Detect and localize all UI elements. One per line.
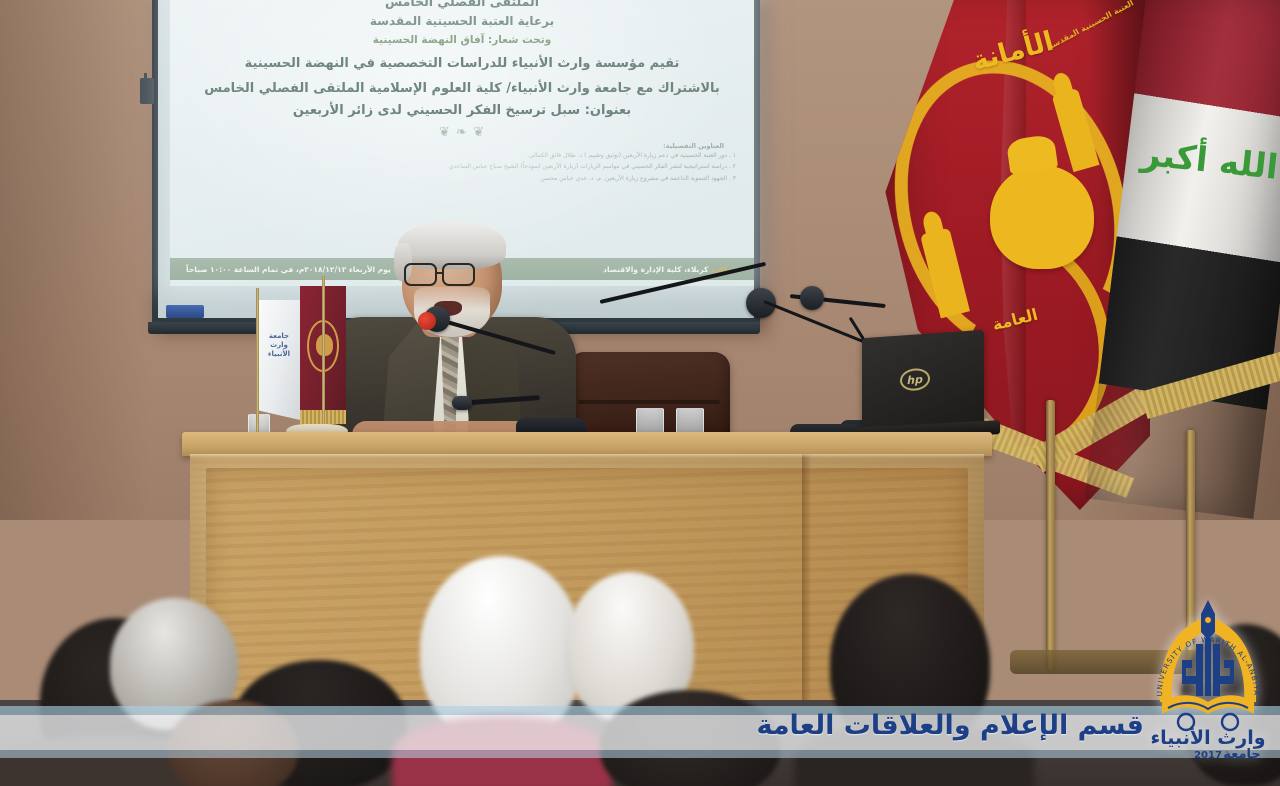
- logo-pillar-icon: [1213, 644, 1220, 696]
- slide-details-list: ١ . دور العتبة الحسينية في دعم زيارة الأ…: [170, 150, 754, 185]
- logo-pillar-icon: [1205, 638, 1211, 696]
- logo-kufic-icon: [1182, 660, 1196, 684]
- slide-line-2: برعاية العتبة الحسينية المقدسة: [196, 12, 728, 31]
- microphone-windscreen: [418, 312, 436, 330]
- desk-surface: [182, 432, 992, 456]
- desk-flag-university: جامعة وارث الأنبياء: [258, 300, 300, 420]
- laptop: hp: [862, 330, 984, 435]
- microphone-capsule: [452, 396, 472, 410]
- slide-detail-item: ٢ . دراسة استراتيجية لنشر الفكر الحسيني …: [188, 161, 736, 173]
- footer-banner: قسم الإعلام والعلاقات العامة: [0, 706, 1280, 758]
- hp-logo-icon: hp: [900, 368, 930, 392]
- speaker: [330, 225, 570, 440]
- logo-year: 2017: [1194, 750, 1222, 761]
- slide-place-value: كربلاء، كلية الإدارة والاقتصاد: [603, 265, 708, 274]
- desk-flag-pole: [322, 276, 325, 428]
- logo-arabic-main: وارث الأنبياء: [1150, 726, 1265, 749]
- slide-ornament: ❦ ❧ ❦: [196, 125, 728, 140]
- speaker-eyeglasses: [404, 263, 437, 286]
- whiteboard-eraser: [166, 305, 204, 318]
- eyeglasses-bridge: [437, 272, 444, 274]
- microphone-head: [800, 286, 824, 310]
- slide-line-6: بعنوان: سبل ترسيخ الفكر الحسيني لدى زائر…: [196, 100, 728, 122]
- screenshot-root: الملتقى الفصلي الخامس برعاية العتبة الحس…: [0, 0, 1280, 786]
- slide-line-5: بالاشتراك مع جامعة وارث الأنبياء/ كلية ا…: [196, 78, 728, 100]
- university-logo: وارث الأنبياء جامعة 2017 UNIVERSITY OF W…: [1146, 598, 1270, 764]
- whiteboard-hook: [140, 78, 154, 104]
- speaker-hair: [398, 221, 506, 269]
- department-label: قسم الإعلام والعلاقات العامة: [756, 710, 1144, 741]
- logo-pillar-icon: [1196, 644, 1203, 696]
- logo-kufic-icon: [1220, 660, 1234, 684]
- logo-arabic-sub: جامعة: [1223, 747, 1261, 762]
- speaker-eyeglasses: [442, 263, 475, 286]
- desk-flag-university-text: جامعة وارث الأنبياء: [262, 332, 296, 359]
- logo-nib-dot: [1205, 617, 1211, 623]
- slide-detail-item: ٣ . الجهود التنموية الداعمة في مشروع زيا…: [188, 173, 736, 185]
- slide-text-block: الملتقى الفصلي الخامس برعاية العتبة الحس…: [170, 0, 754, 140]
- slide-line-3: وتحت شعار: آفاق النهضة الحسينية: [196, 32, 728, 50]
- desk-flag-pole: [256, 288, 259, 438]
- desk-edge-highlight: [190, 454, 984, 458]
- slide-detail-item: ١ . دور العتبة الحسينية في دعم زيارة الأ…: [188, 150, 736, 162]
- shrine-dome-icon: [990, 165, 1094, 269]
- slide-line-1: الملتقى الفصلي الخامس: [196, 0, 728, 12]
- slide-details-header: العناوين التفصيلية:: [170, 140, 754, 150]
- slide-line-4: تقيم مؤسسة وارث الأنبياء للدراسات التخصص…: [196, 53, 728, 75]
